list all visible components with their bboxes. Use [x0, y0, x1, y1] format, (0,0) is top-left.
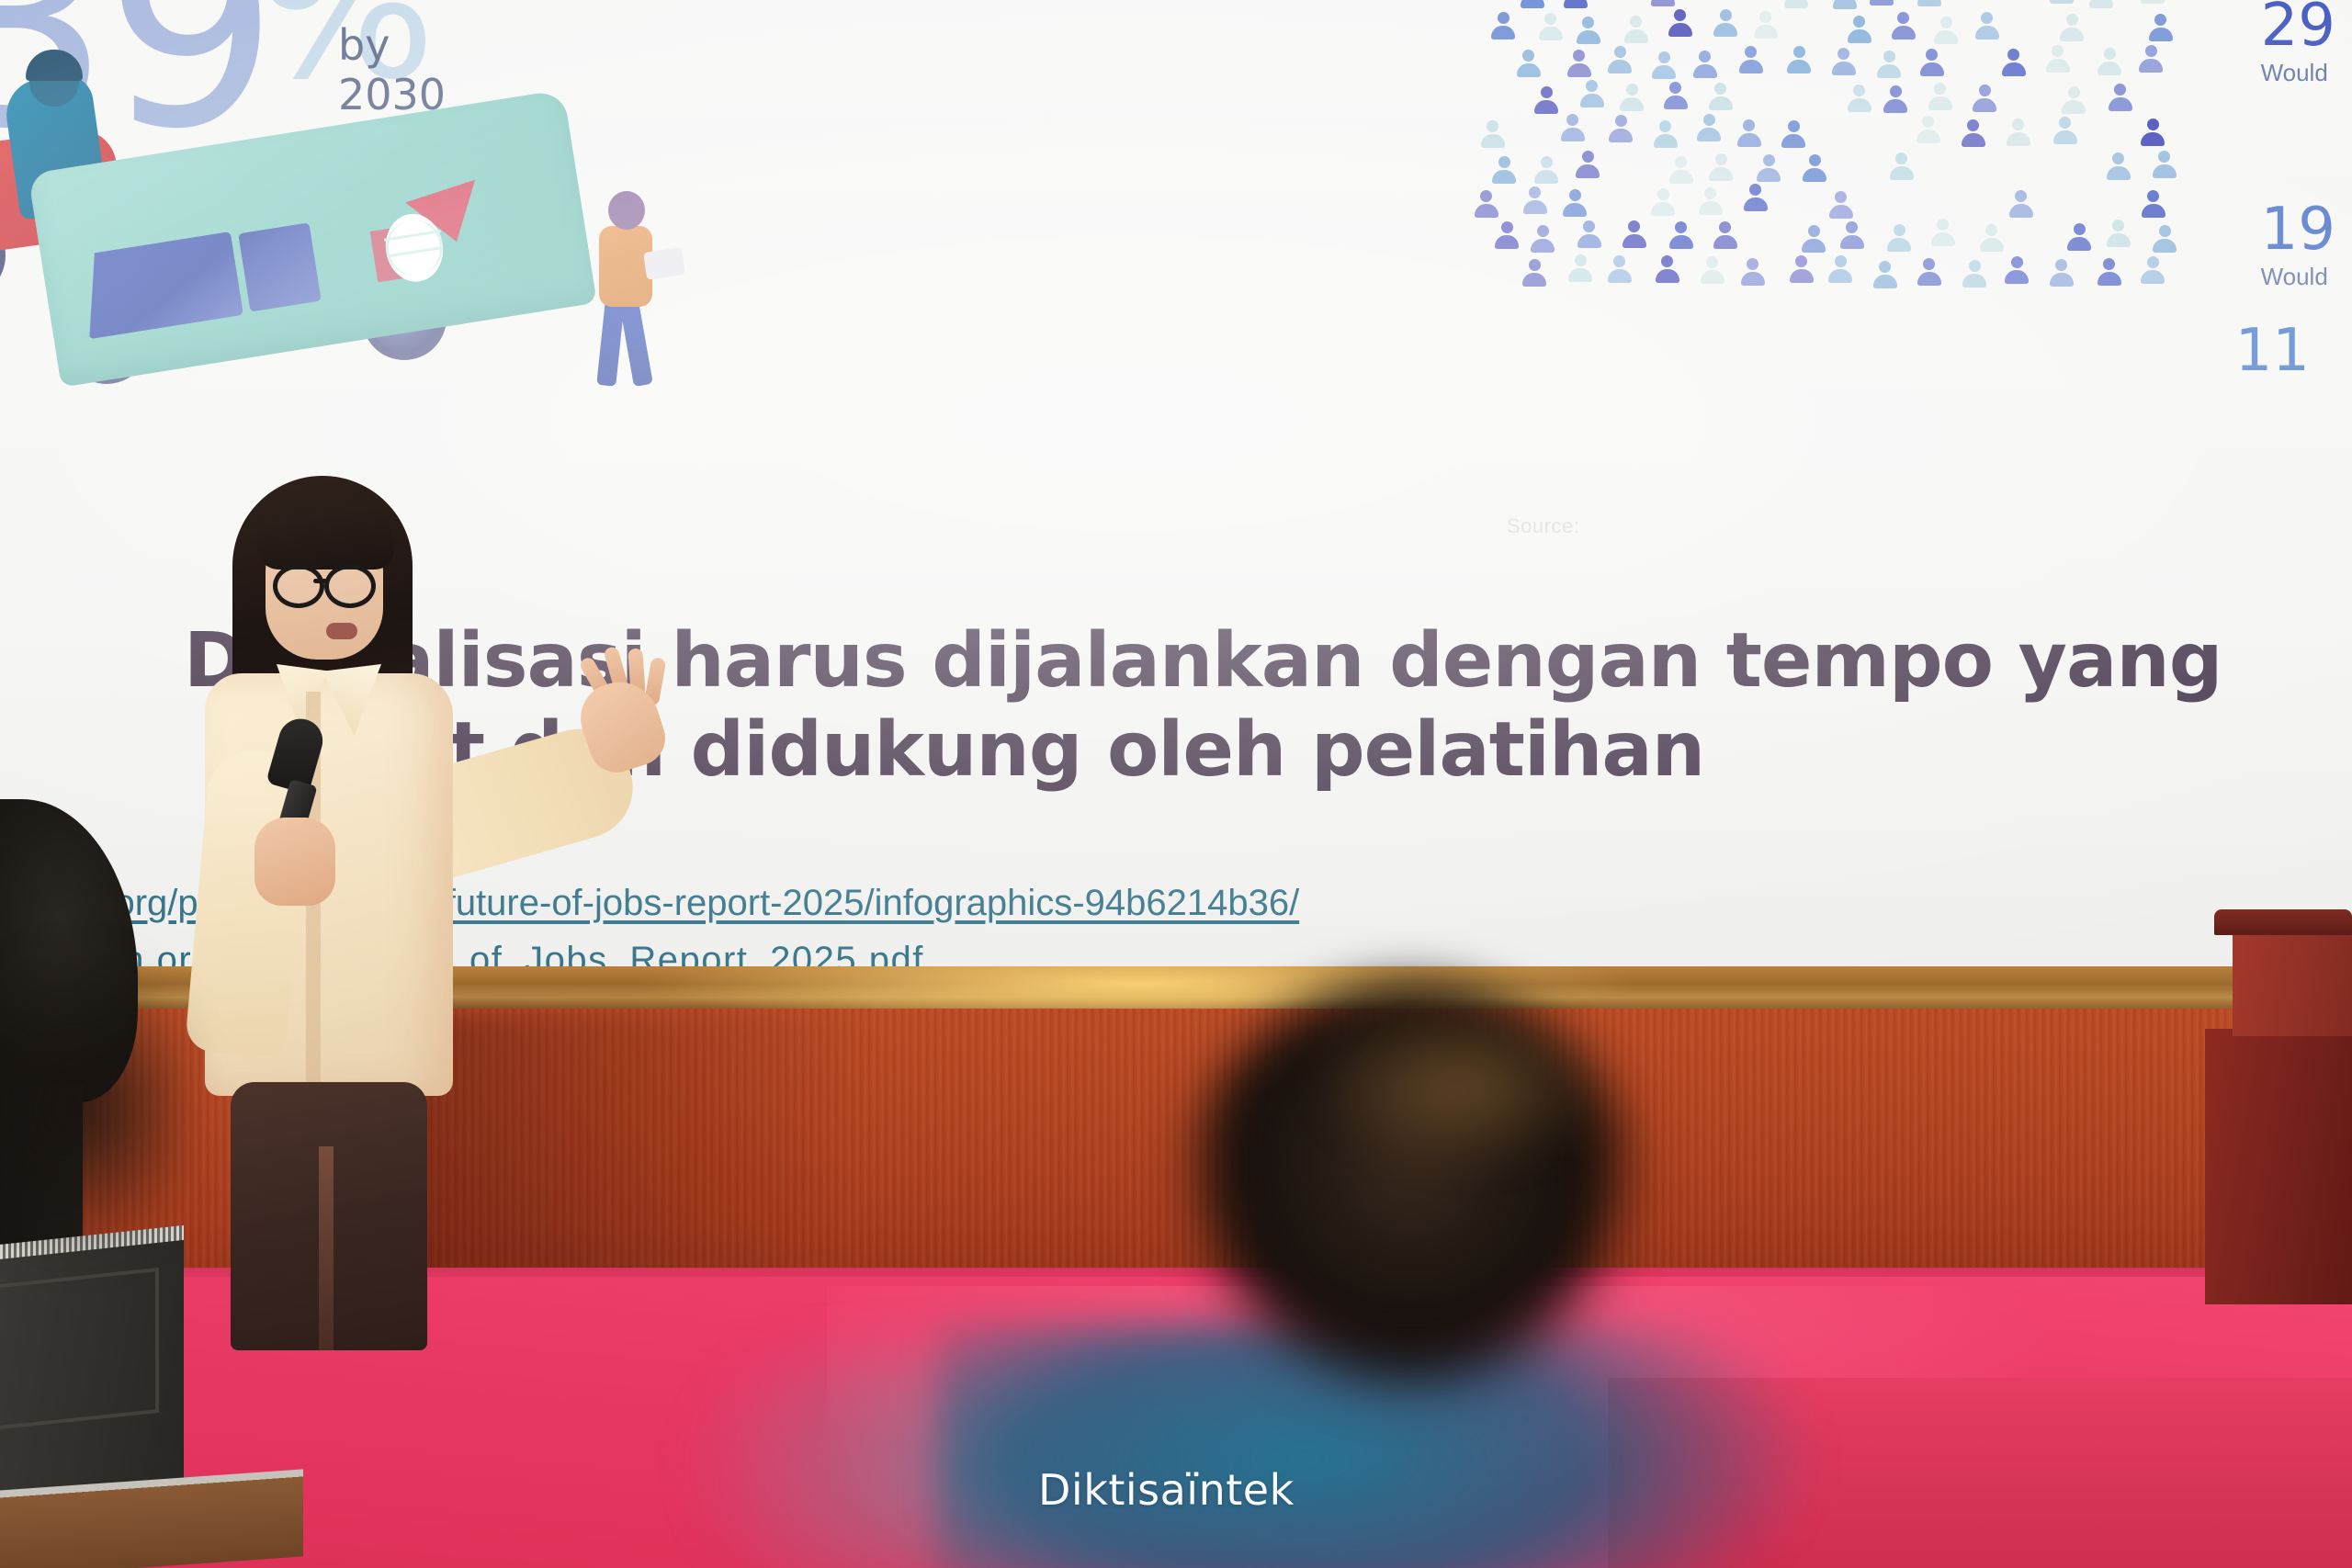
person-icon — [1493, 221, 1521, 249]
van-windshield — [76, 231, 243, 339]
person-icon — [2096, 48, 2123, 75]
source-note: Source: — [1507, 514, 1579, 538]
person-icon — [2105, 152, 2132, 180]
person-icon — [2096, 258, 2123, 286]
pedestrian-head — [608, 191, 645, 230]
person-icon — [1755, 154, 1782, 182]
lectern-base — [2205, 1029, 2352, 1304]
person-icon — [1490, 156, 1518, 184]
person-icon — [1915, 116, 1942, 143]
people-pictogram-chart — [1470, 0, 2205, 287]
person-icon — [1838, 221, 1866, 249]
person-icon — [1932, 17, 1960, 44]
person-icon — [1712, 221, 1739, 249]
person-icon — [1668, 156, 1695, 184]
walking-person — [597, 191, 649, 384]
person-icon — [2139, 0, 2166, 4]
person-icon — [1652, 120, 1679, 148]
stat-label-1: Would — [2261, 263, 2335, 291]
person-icon — [1521, 186, 1549, 214]
stat-label-0: Would — [2261, 59, 2335, 87]
person-icon — [2137, 45, 2165, 73]
eyeglasses-right-lens-icon — [324, 564, 376, 608]
parcel-icon — [643, 247, 685, 280]
stat-value-2: 11 — [2235, 321, 2310, 380]
trouser-gap — [319, 1146, 334, 1350]
person-icon — [1868, 0, 1895, 6]
person-icon — [1712, 9, 1739, 37]
person-icon — [1929, 219, 1957, 246]
person-icon — [1650, 51, 1678, 79]
delivery-illustration — [0, 83, 744, 450]
person-icon — [1576, 220, 1603, 248]
presenter — [188, 476, 703, 1339]
person-icon — [1827, 191, 1855, 219]
presenter-fringe — [256, 503, 394, 570]
person-icon — [2048, 259, 2075, 287]
person-icon — [1699, 256, 1726, 284]
person-icon — [1654, 255, 1681, 283]
person-icon — [2151, 225, 2178, 253]
person-icon — [1649, 0, 1677, 6]
person-icon — [1532, 156, 1560, 184]
person-icon — [1788, 255, 1815, 283]
person-icon — [1559, 114, 1587, 141]
person-icon — [1566, 50, 1593, 77]
blurred-head-highlight — [1314, 1001, 1617, 1167]
presenter-hand-holding-mic — [254, 818, 335, 906]
person-icon — [2058, 14, 2086, 41]
person-icon — [1846, 16, 1873, 43]
person-icon — [1606, 46, 1634, 73]
person-icon — [1649, 188, 1677, 216]
person-icon — [1575, 17, 1602, 44]
person-icon — [1960, 119, 1987, 147]
person-icon — [1916, 0, 1943, 6]
person-icon — [1752, 11, 1780, 39]
person-icon — [1978, 224, 2006, 252]
person-icon — [1489, 12, 1517, 39]
person-icon — [1785, 46, 1813, 73]
person-icon — [1473, 190, 1500, 218]
person-icon — [2000, 49, 2028, 76]
person-icon — [1521, 259, 1548, 287]
person-icon — [1623, 16, 1650, 43]
stat-item-0: 29 Would — [2261, 0, 2335, 87]
person-icon — [1875, 51, 1903, 78]
person-icon — [1695, 114, 1723, 141]
person-icon — [1918, 49, 1946, 76]
person-icon — [1882, 85, 1909, 113]
person-icon — [1562, 0, 1589, 8]
person-icon — [1621, 220, 1648, 248]
person-icon — [1927, 83, 1954, 110]
van-side-window — [238, 222, 321, 311]
person-icon — [2052, 117, 2079, 144]
person-icon — [2048, 0, 2075, 4]
person-icon — [1871, 261, 1899, 288]
photo-scene: 39 % by 2030 — [0, 0, 2352, 1568]
person-icon — [1830, 48, 1858, 75]
person-icon — [1831, 0, 1859, 9]
person-icon — [1971, 85, 1998, 112]
stat-item-2: 11 — [2235, 321, 2310, 384]
person-icon — [1574, 151, 1601, 178]
person-icon — [1739, 258, 1767, 286]
person-icon — [1515, 50, 1543, 77]
person-icon — [1532, 86, 1560, 114]
person-icon — [1697, 187, 1724, 215]
person-icon — [1707, 153, 1735, 181]
person-icon — [1707, 83, 1735, 110]
person-icon — [2140, 190, 2167, 218]
person-icon — [1618, 84, 1645, 111]
presenter-mouth — [326, 623, 357, 639]
person-icon — [1973, 12, 2001, 39]
person-icon — [2065, 223, 2093, 251]
person-icon — [1607, 115, 1634, 142]
person-icon — [1662, 82, 1690, 109]
person-icon — [1737, 46, 1765, 73]
person-icon — [1479, 120, 1507, 148]
person-icon — [1606, 255, 1634, 283]
delivery-van — [28, 89, 596, 387]
eyeglasses-bridge — [313, 579, 328, 583]
person-icon — [1885, 224, 1913, 252]
eyeglasses-left-lens-icon — [273, 564, 324, 608]
person-icon — [1801, 154, 1828, 182]
person-icon — [2044, 45, 2072, 73]
person-icon — [2007, 190, 2035, 218]
person-icon — [1566, 254, 1594, 282]
person-icon — [1780, 120, 1807, 148]
person-icon — [1800, 225, 1827, 253]
person-icon — [1782, 0, 1810, 8]
person-icon — [1561, 189, 1589, 217]
person-icon — [2139, 256, 2166, 284]
person-icon — [1736, 119, 1763, 147]
person-icon — [1826, 255, 1854, 283]
person-icon — [1888, 152, 1916, 180]
person-icon — [2005, 118, 2032, 146]
person-icon — [2087, 0, 2115, 8]
person-icon — [2139, 118, 2166, 146]
person-icon — [1846, 85, 1873, 112]
pedestrian-leg-right — [619, 300, 653, 387]
person-icon — [2003, 256, 2030, 284]
person-icon — [2105, 220, 2132, 247]
person-icon — [1890, 12, 1917, 39]
person-icon — [1668, 221, 1695, 249]
lectern-top — [2214, 909, 2352, 935]
person-icon — [2060, 86, 2087, 114]
person-icon — [1578, 80, 1606, 107]
person-icon — [2147, 14, 2175, 41]
foreground-blur-left — [0, 955, 184, 1258]
stage-monitor-panel — [0, 1268, 159, 1431]
stat-value-0: 29 — [2261, 0, 2335, 55]
person-icon — [2107, 84, 2134, 111]
person-icon — [1529, 225, 1556, 253]
stat-item-1: 19 Would — [2261, 200, 2335, 291]
person-icon — [1537, 13, 1565, 40]
person-icon — [2151, 151, 2178, 178]
person-icon — [1961, 260, 1988, 288]
person-icon — [1519, 0, 1546, 8]
watermark: Diktisaïntek — [1038, 1465, 1295, 1515]
person-icon — [1667, 9, 1694, 37]
person-icon — [1742, 184, 1770, 211]
stat-value-1: 19 — [2261, 200, 2335, 259]
person-icon — [1916, 258, 1943, 286]
person-icon — [1691, 51, 1719, 78]
lectern-body — [2233, 933, 2352, 1036]
